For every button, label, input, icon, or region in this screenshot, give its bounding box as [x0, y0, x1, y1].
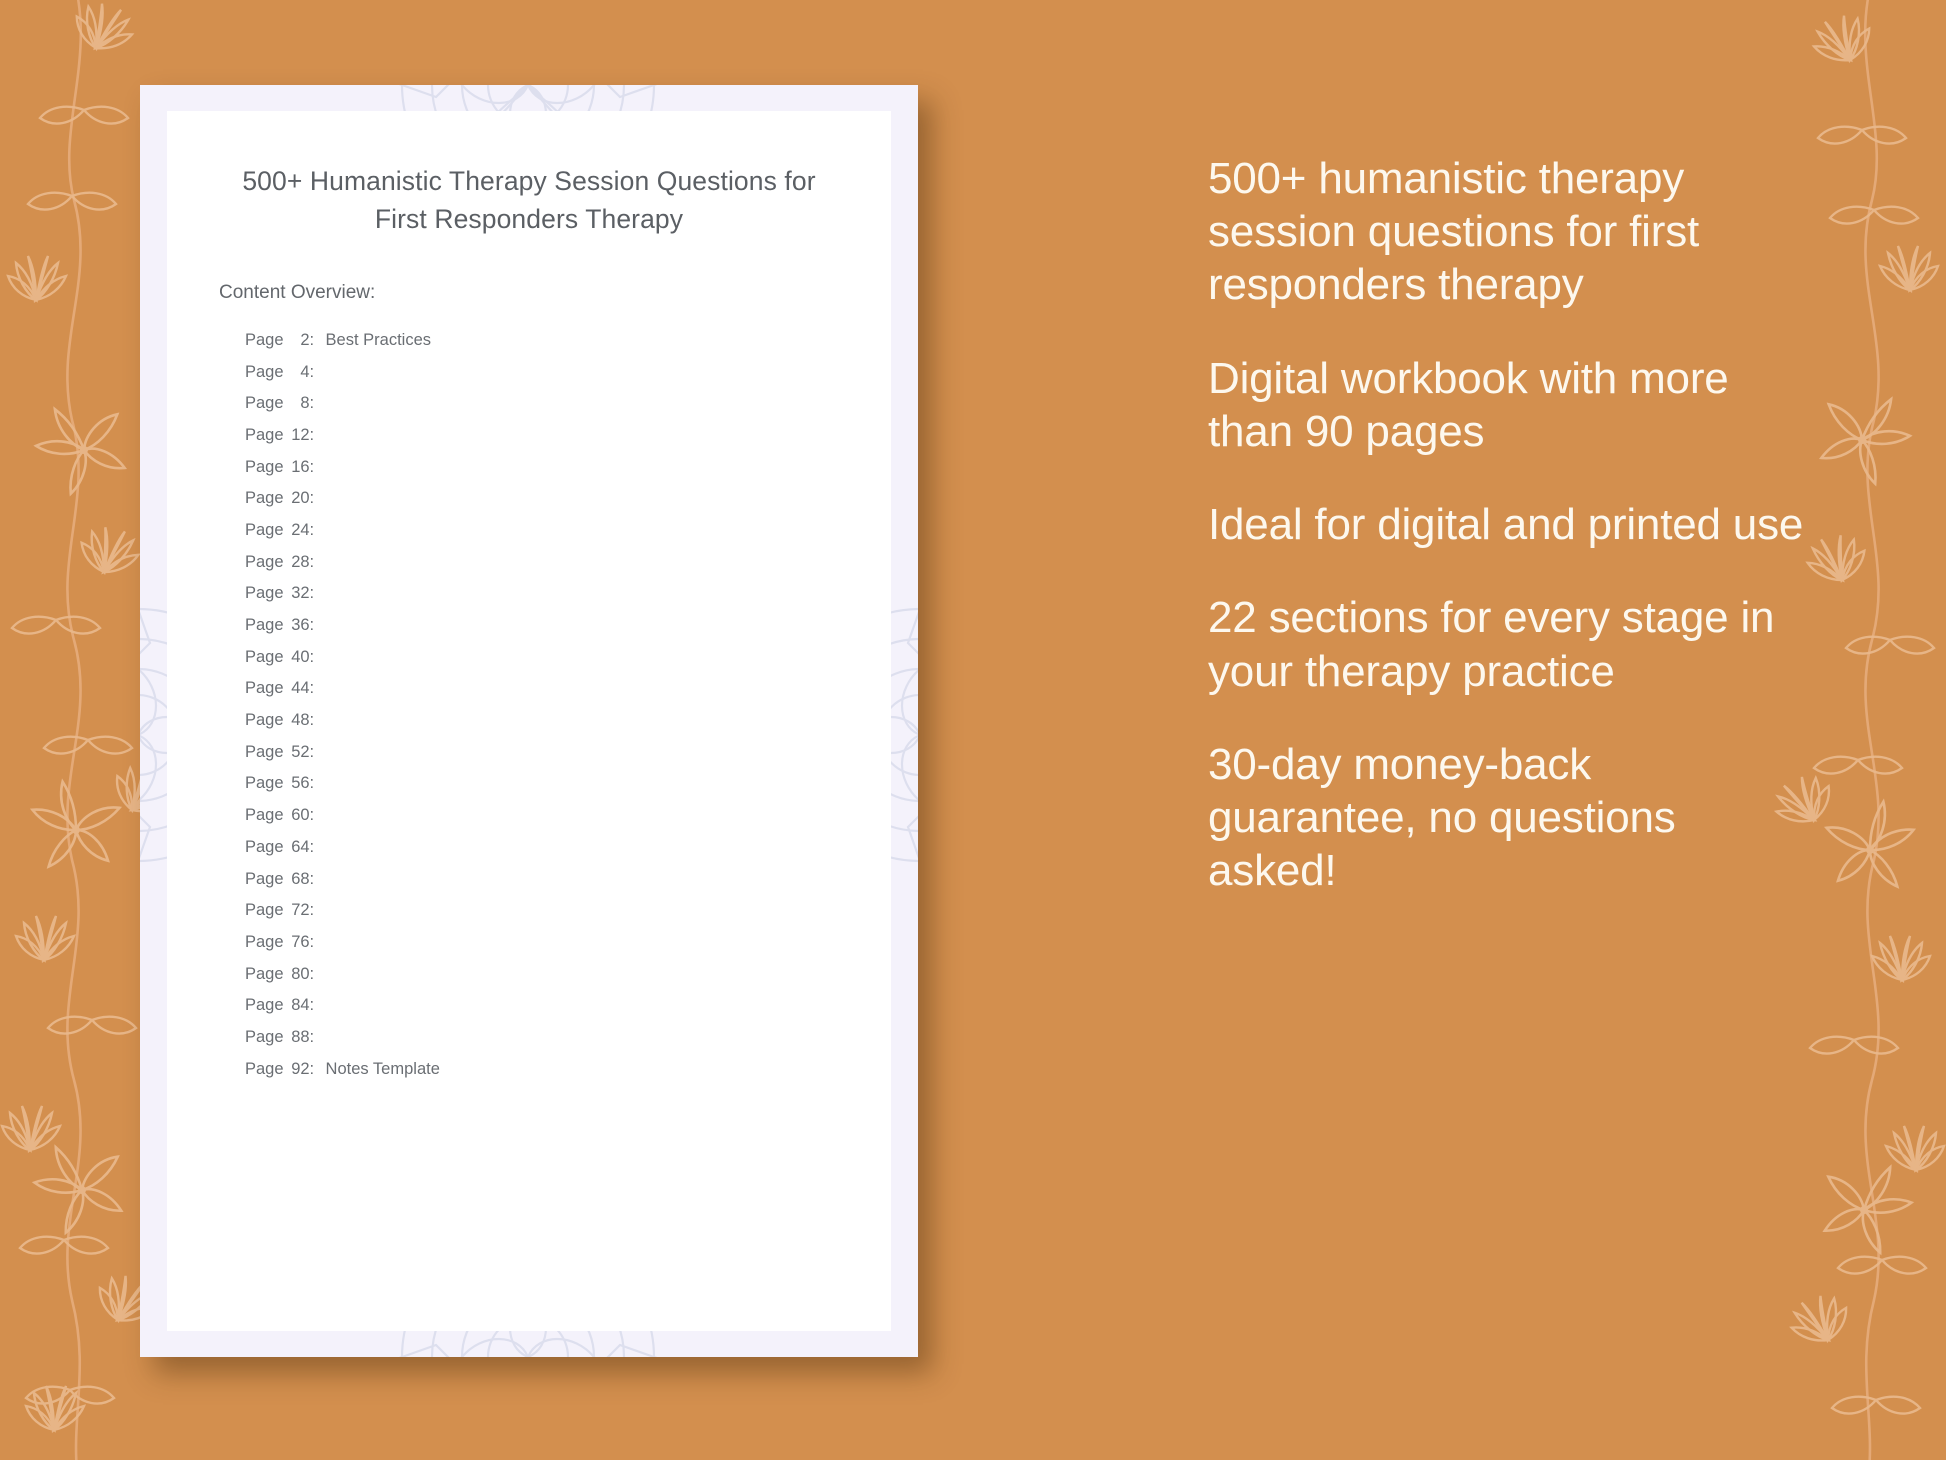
toc-row: Page 60: — [245, 800, 891, 832]
marketing-bullet: 22 sections for every stage in your ther… — [1208, 591, 1808, 697]
toc-page-number: 40 — [284, 649, 310, 666]
toc-row: Page 32: — [245, 578, 891, 610]
toc-page-label: Page — [245, 490, 284, 507]
toc-page-label: Page — [245, 775, 284, 792]
toc-colon: : — [310, 871, 326, 888]
toc-row: Page 64: — [245, 831, 891, 863]
toc-row: Page 2:Best Practices — [245, 324, 891, 356]
toc-page-label: Page — [245, 649, 284, 666]
toc-colon: : — [310, 775, 326, 792]
toc-row: Page 48: — [245, 705, 891, 737]
toc-page-label: Page — [245, 427, 284, 444]
toc-colon: : — [310, 585, 326, 602]
toc-page-label: Page — [245, 807, 284, 824]
toc-page-label: Page — [245, 332, 284, 349]
toc-page-number: 68 — [284, 871, 310, 888]
marketing-panel: 500+ humanistic therapy session question… — [1208, 152, 1808, 898]
toc-colon: : — [310, 997, 326, 1014]
table-of-contents: Page 2:Best PracticesPage 4:Page 8:Page … — [245, 324, 891, 1085]
toc-page-label: Page — [245, 395, 284, 412]
toc-colon: : — [310, 839, 326, 856]
toc-colon: : — [310, 712, 326, 729]
toc-row: Page 92:Notes Template — [245, 1053, 891, 1085]
toc-colon: : — [310, 1029, 326, 1046]
document-mockup[interactable]: 500+ Humanistic Therapy Session Question… — [140, 85, 918, 1357]
toc-colon: : — [310, 649, 326, 666]
toc-row: Page 52: — [245, 736, 891, 768]
toc-row: Page 80: — [245, 958, 891, 990]
toc-colon: : — [310, 395, 326, 412]
toc-row: Page 8: — [245, 388, 891, 420]
toc-page-number: 32 — [284, 585, 310, 602]
toc-section-title: Notes Template — [326, 1061, 440, 1078]
toc-row: Page 40: — [245, 641, 891, 673]
toc-page-number: 84 — [284, 997, 310, 1014]
page-title: 500+ Humanistic Therapy Session Question… — [225, 163, 833, 238]
toc-colon: : — [310, 807, 326, 824]
toc-page-label: Page — [245, 617, 284, 634]
toc-page-number: 28 — [284, 554, 310, 571]
toc-page-label: Page — [245, 744, 284, 761]
toc-page-number: 4 — [284, 364, 310, 381]
toc-page-number: 56 — [284, 775, 310, 792]
toc-page-number: 72 — [284, 902, 310, 919]
toc-row: Page 56: — [245, 768, 891, 800]
toc-page-number: 76 — [284, 934, 310, 951]
toc-page-label: Page — [245, 966, 284, 983]
toc-page-label: Page — [245, 680, 284, 697]
toc-row: Page 20: — [245, 483, 891, 515]
toc-colon: : — [310, 364, 326, 381]
marketing-bullet: 500+ humanistic therapy session question… — [1208, 152, 1808, 312]
toc-page-number: 20 — [284, 490, 310, 507]
toc-colon: : — [310, 744, 326, 761]
toc-colon: : — [310, 427, 326, 444]
toc-row: Page 84: — [245, 990, 891, 1022]
toc-page-label: Page — [245, 997, 284, 1014]
toc-colon: : — [310, 966, 326, 983]
toc-page-label: Page — [245, 1029, 284, 1046]
toc-colon: : — [310, 680, 326, 697]
toc-colon: : — [310, 617, 326, 634]
toc-page-number: 36 — [284, 617, 310, 634]
toc-page-label: Page — [245, 585, 284, 602]
toc-page-number: 52 — [284, 744, 310, 761]
toc-page-number: 60 — [284, 807, 310, 824]
toc-page-label: Page — [245, 522, 284, 539]
toc-row: Page 44: — [245, 673, 891, 705]
toc-page-label: Page — [245, 712, 284, 729]
toc-page-number: 92 — [284, 1061, 310, 1078]
toc-colon: : — [310, 490, 326, 507]
page-title-line-2: First Responders Therapy — [375, 204, 683, 234]
page-sheet: 500+ Humanistic Therapy Session Question… — [167, 111, 891, 1331]
toc-row: Page 28: — [245, 546, 891, 578]
toc-page-label: Page — [245, 839, 284, 856]
toc-page-number: 88 — [284, 1029, 310, 1046]
toc-colon: : — [310, 902, 326, 919]
toc-row: Page 24: — [245, 514, 891, 546]
toc-colon: : — [310, 332, 326, 349]
toc-colon: : — [310, 934, 326, 951]
toc-colon: : — [310, 554, 326, 571]
toc-page-label: Page — [245, 934, 284, 951]
toc-colon: : — [310, 522, 326, 539]
toc-page-number: 24 — [284, 522, 310, 539]
toc-row: Page 72: — [245, 895, 891, 927]
toc-page-number: 80 — [284, 966, 310, 983]
content-overview-label: Content Overview: — [219, 282, 891, 304]
toc-colon: : — [310, 459, 326, 476]
toc-section-title: Best Practices — [326, 332, 431, 349]
toc-page-label: Page — [245, 871, 284, 888]
toc-row: Page 12: — [245, 419, 891, 451]
toc-page-number: 16 — [284, 459, 310, 476]
toc-row: Page 16: — [245, 451, 891, 483]
marketing-bullet: 30-day money-back guarantee, no question… — [1208, 738, 1808, 898]
toc-page-label: Page — [245, 364, 284, 381]
marketing-bullet: Ideal for digital and printed use — [1208, 498, 1808, 551]
toc-row: Page 36: — [245, 609, 891, 641]
toc-page-number: 8 — [284, 395, 310, 412]
page-title-line-1: 500+ Humanistic Therapy Session Question… — [242, 166, 815, 196]
toc-page-label: Page — [245, 554, 284, 571]
toc-page-number: 48 — [284, 712, 310, 729]
toc-page-number: 12 — [284, 427, 310, 444]
toc-page-label: Page — [245, 459, 284, 476]
toc-row: Page 4: — [245, 356, 891, 388]
toc-page-number: 2 — [284, 332, 310, 349]
toc-page-label: Page — [245, 1061, 284, 1078]
toc-row: Page 68: — [245, 863, 891, 895]
toc-colon: : — [310, 1061, 326, 1078]
toc-page-label: Page — [245, 902, 284, 919]
toc-page-number: 44 — [284, 680, 310, 697]
toc-row: Page 88: — [245, 1021, 891, 1053]
toc-page-number: 64 — [284, 839, 310, 856]
toc-row: Page 76: — [245, 926, 891, 958]
marketing-bullet: Digital workbook with more than 90 pages — [1208, 352, 1808, 458]
